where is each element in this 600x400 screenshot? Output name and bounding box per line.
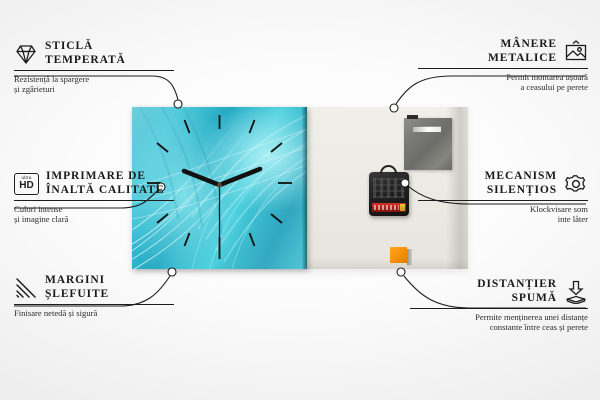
hour-hand (184, 171, 220, 185)
diamond-icon (14, 42, 38, 66)
callout-glass: STICLĂ TEMPERATĂ Rezistență la spargere … (14, 40, 174, 95)
callout-print-head: ultra HD IMPRIMARE DE ÎNALTĂ CALITATE (14, 170, 174, 197)
gear-icon (564, 172, 588, 196)
callout-glass-rule (14, 70, 174, 71)
callout-print-subtitle: Culori intense și imagine clară (14, 204, 174, 225)
mechanism-housing-detail (373, 178, 405, 198)
hanger-slot (413, 126, 441, 132)
clock-mechanism (369, 172, 409, 216)
foam-spacer (390, 247, 407, 263)
hanger-nub (407, 115, 418, 119)
ultra-hd-badge-icon: ultra HD (14, 173, 39, 195)
callout-handles-title: MÂNERE METALICE (488, 38, 557, 65)
callout-spacer-subtitle: Permite menținerea unei distanțe constan… (410, 312, 588, 333)
callout-glass-title: STICLĂ TEMPERATĂ (45, 40, 126, 67)
callout-mechanism-title: MECANISM SILENȚIOS (485, 170, 557, 197)
callout-edges-head: MARGINI ȘLEFUITE (14, 274, 174, 301)
battery-label (374, 205, 399, 210)
callout-edges-rule (14, 304, 174, 305)
picture-hanger-icon (564, 40, 588, 64)
callout-mechanism: MECANISM SILENȚIOS Klockvisare som inte … (418, 170, 588, 225)
glass-right-edge (302, 107, 307, 269)
callout-mechanism-subtitle: Klockvisare som inte låter (418, 204, 588, 225)
callout-glass-subtitle: Rezistență la spargere și zgârieturi (14, 74, 174, 95)
callout-mechanism-rule (418, 200, 588, 201)
callout-handles: MÂNERE METALICE Permit montarea ușoară a… (418, 38, 588, 93)
callout-handles-rule (418, 68, 588, 69)
callout-edges: MARGINI ȘLEFUITE Finisare netedă și sigu… (14, 274, 174, 318)
callout-spacer-head: DISTANȚIER SPUMĂ (410, 278, 588, 305)
infographic-canvas: STICLĂ TEMPERATĂ Rezistență la spargere … (0, 0, 600, 400)
callout-handles-head: MÂNERE METALICE (418, 38, 588, 65)
callout-spacer: DISTANȚIER SPUMĂ Permite menținerea unei… (410, 278, 588, 333)
callout-print: ultra HD IMPRIMARE DE ÎNALTĂ CALITATE Cu… (14, 170, 174, 225)
badge-hd-text: HD (19, 181, 33, 191)
battery-terminal (400, 204, 405, 211)
hand-pivot (217, 183, 222, 188)
callout-spacer-title: DISTANȚIER SPUMĂ (477, 278, 557, 305)
arrow-down-onto-layer-icon (564, 280, 588, 304)
callout-mechanism-head: MECANISM SILENȚIOS (418, 170, 588, 197)
mechanism-hanging-loop (380, 165, 397, 174)
callout-print-title: IMPRIMARE DE ÎNALTĂ CALITATE (46, 170, 164, 197)
foam-spacer-shadow (407, 249, 412, 265)
callout-spacer-rule (410, 308, 588, 309)
minute-hand (220, 169, 261, 185)
metal-hanger-plate (404, 118, 452, 170)
callout-handles-subtitle: Permit montarea ușoară a ceasului pe per… (418, 72, 588, 93)
polished-edge-lines-icon (14, 276, 38, 300)
callout-edges-title: MARGINI ȘLEFUITE (45, 274, 109, 301)
callout-edges-subtitle: Finisare netedă și sigură (14, 308, 174, 318)
callout-print-rule (14, 200, 174, 201)
battery (372, 203, 406, 212)
callout-glass-head: STICLĂ TEMPERATĂ (14, 40, 174, 67)
